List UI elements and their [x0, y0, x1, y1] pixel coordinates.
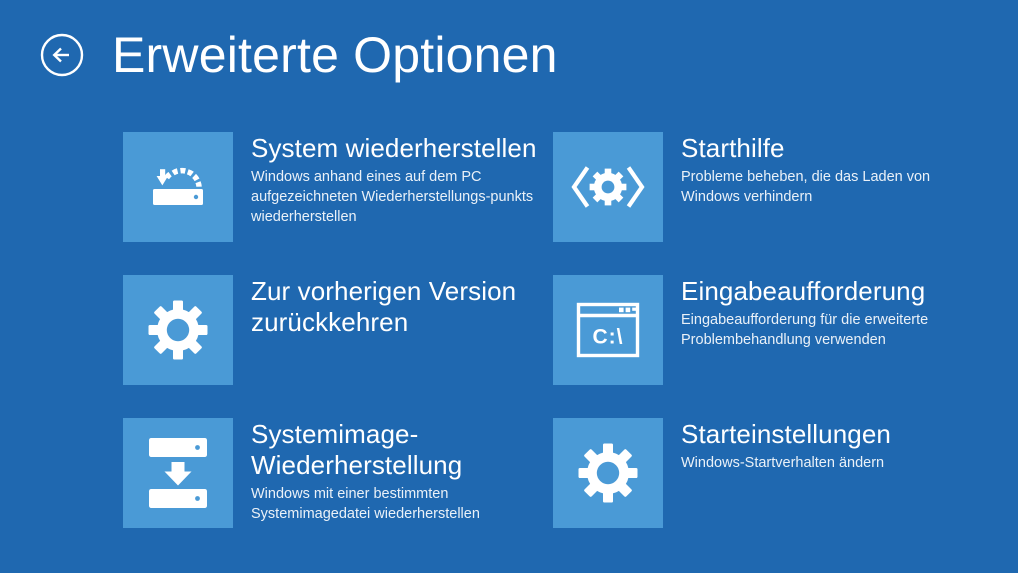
startup-repair-icon [553, 132, 663, 242]
command-prompt-icon: C:\ [553, 275, 663, 385]
option-command-prompt[interactable]: C:\ Eingabeaufforderung Eingabeaufforder… [553, 275, 969, 385]
option-system-restore[interactable]: System wiederherstellen Windows anhand e… [123, 132, 539, 242]
option-title: Systemimage-Wiederherstellung [251, 419, 539, 481]
option-description: Eingabeaufforderung für die erweiterte P… [681, 310, 969, 350]
gear-icon [123, 275, 233, 385]
option-text: Eingabeaufforderung Eingabeaufforderung … [681, 275, 969, 350]
option-text: Starthilfe Probleme beheben, die das Lad… [681, 132, 969, 207]
option-text: Starteinstellungen Windows-Startverhalte… [681, 418, 969, 473]
option-title: System wiederherstellen [251, 133, 539, 164]
option-go-back-previous-version[interactable]: Zur vorherigen Version zurückkehren [123, 275, 539, 385]
header: Erweiterte Optionen [0, 0, 1018, 110]
back-arrow-circle-icon[interactable] [38, 31, 86, 79]
gear-icon [553, 418, 663, 528]
option-system-image-recovery[interactable]: Systemimage-Wiederherstellung Windows mi… [123, 418, 539, 528]
option-text: Systemimage-Wiederherstellung Windows mi… [251, 418, 539, 524]
option-title: Starteinstellungen [681, 419, 969, 450]
option-startup-repair[interactable]: Starthilfe Probleme beheben, die das Lad… [553, 132, 969, 242]
option-description: Windows-Startverhalten ändern [681, 453, 969, 473]
option-description: Windows mit einer bestimmten Systemimage… [251, 484, 539, 524]
option-description: Probleme beheben, die das Laden von Wind… [681, 167, 969, 207]
option-title: Zur vorherigen Version zurückkehren [251, 276, 539, 338]
option-title: Eingabeaufforderung [681, 276, 969, 307]
page-title: Erweiterte Optionen [112, 30, 558, 80]
svg-text:C:\: C:\ [593, 326, 624, 349]
option-text: System wiederherstellen Windows anhand e… [251, 132, 539, 227]
recovery-environment-screen: Erweiterte Optionen [0, 0, 1018, 573]
option-description: Windows anhand eines auf dem PC aufgezei… [251, 167, 539, 227]
option-startup-settings[interactable]: Starteinstellungen Windows-Startverhalte… [553, 418, 969, 528]
option-text: Zur vorherigen Version zurückkehren [251, 275, 539, 341]
options-grid: System wiederherstellen Windows anhand e… [0, 118, 1018, 548]
system-restore-icon [123, 132, 233, 242]
system-image-recovery-icon [123, 418, 233, 528]
option-title: Starthilfe [681, 133, 969, 164]
